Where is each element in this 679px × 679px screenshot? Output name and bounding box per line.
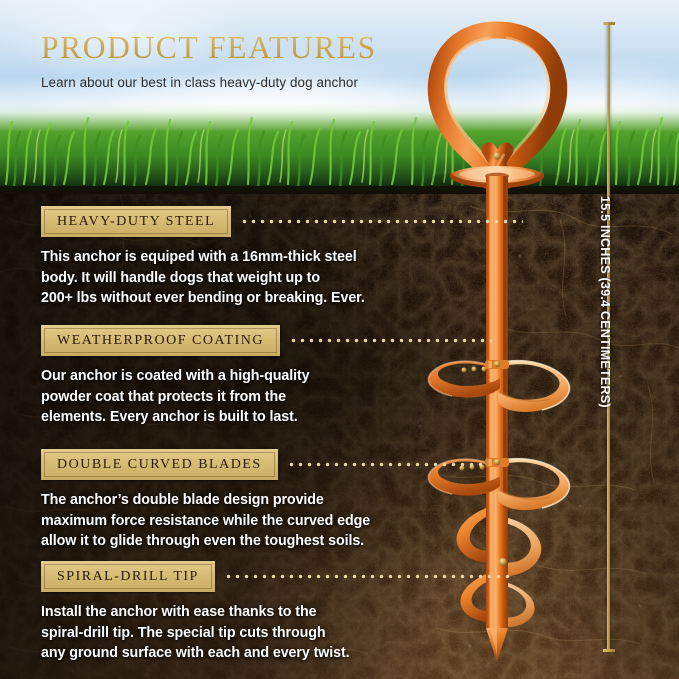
- feature-label: HEAVY-DUTY STEEL: [57, 214, 215, 229]
- feature-label-box: SPIRAL-DRILL TIP: [41, 561, 215, 592]
- feature-weatherproof-coating: WEATHERPROOF COATING Our anchor is coate…: [41, 325, 492, 428]
- leader-line: [289, 338, 492, 343]
- page-subtitle: Learn about our best in class heavy-duty…: [41, 75, 471, 90]
- product-features-infographic: 15.5 INCHES (39.4 CENTIMETERS): [0, 0, 679, 679]
- feature-label-row: HEAVY-DUTY STEEL: [41, 206, 523, 237]
- feature-label-row: DOUBLE CURVED BLADES: [41, 449, 486, 480]
- feature-label: DOUBLE CURVED BLADES: [57, 457, 262, 472]
- lower-blade-hub-bolt: [494, 459, 500, 465]
- feature-double-curved-blades: DOUBLE CURVED BLADES The anchor’s double…: [41, 449, 486, 552]
- feature-label: WEATHERPROOF COATING: [57, 333, 264, 348]
- feature-heavy-duty-steel: HEAVY-DUTY STEEL This anchor is equiped …: [41, 206, 523, 309]
- loop-weld-bolt: [493, 152, 500, 159]
- feature-body: This anchor is equiped with a 16mm-thick…: [41, 247, 441, 309]
- leader-line: [287, 462, 486, 467]
- feature-label: SPIRAL-DRILL TIP: [57, 569, 199, 584]
- feature-label-box: WEATHERPROOF COATING: [41, 325, 280, 356]
- page-title: PRODUCT FEATURES: [41, 30, 471, 66]
- feature-label-row: WEATHERPROOF COATING: [41, 325, 492, 356]
- feature-label-box: HEAVY-DUTY STEEL: [41, 206, 231, 237]
- leader-line: [240, 219, 523, 224]
- leader-line: [224, 574, 515, 579]
- feature-spiral-drill-tip: SPIRAL-DRILL TIP Install the anchor with…: [41, 561, 515, 664]
- feature-body: Install the anchor with ease thanks to t…: [41, 602, 433, 664]
- header: PRODUCT FEATURES Learn about our best in…: [41, 30, 471, 90]
- feature-label-row: SPIRAL-DRILL TIP: [41, 561, 515, 592]
- feature-body: The anchor’s double blade design provide…: [41, 490, 446, 552]
- upper-blade-hub-bolt: [494, 361, 500, 367]
- upper-blade-right: [498, 361, 569, 412]
- lower-blade-right: [498, 459, 569, 510]
- feature-label-box: DOUBLE CURVED BLADES: [41, 449, 278, 480]
- feature-body: Our anchor is coated with a high-quality…: [41, 366, 426, 428]
